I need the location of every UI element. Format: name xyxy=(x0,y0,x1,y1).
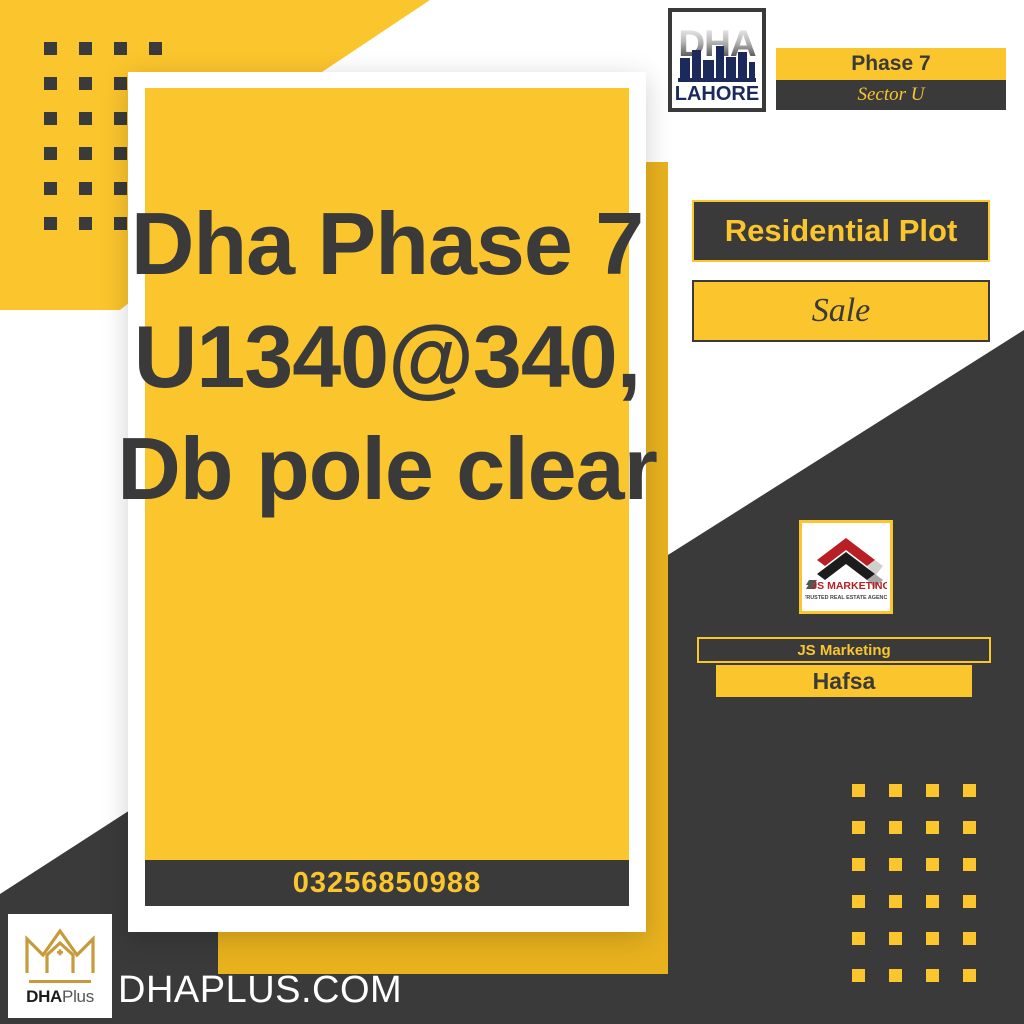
property-listing-poster: Dha Phase 7 U1340@340, Db pole clear 032… xyxy=(0,0,1024,1024)
dot xyxy=(149,42,162,55)
dot xyxy=(114,112,127,125)
sector-label: Sector U xyxy=(857,84,924,106)
listing-card-body: Dha Phase 7 U1340@340, Db pole clear xyxy=(145,88,629,878)
dot xyxy=(926,895,939,908)
dot xyxy=(926,932,939,945)
dot xyxy=(114,77,127,90)
agent-name: Hafsa xyxy=(813,668,876,695)
phone-number: 03256850988 xyxy=(293,867,481,900)
dot xyxy=(926,969,939,982)
dot xyxy=(926,858,939,871)
brand-bold: DHA xyxy=(26,987,62,1006)
dot xyxy=(889,821,902,834)
dot xyxy=(963,932,976,945)
dot xyxy=(963,784,976,797)
dot xyxy=(852,932,865,945)
dot xyxy=(114,42,127,55)
brand-underline xyxy=(29,980,91,983)
dot xyxy=(44,112,57,125)
listing-type-badge: Sale xyxy=(692,280,990,342)
phone-bar[interactable]: 03256850988 xyxy=(145,860,629,906)
dha-logo-inner: DHA LAHORE xyxy=(672,12,762,108)
crown-house-icon xyxy=(23,925,97,977)
agency-logo: JS MARKETING TRUSTED REAL ESTATE AGENCY xyxy=(799,520,893,614)
agency-logo-tagline: TRUSTED REAL ESTATE AGENCY xyxy=(805,595,887,601)
sector-badge: Sector U xyxy=(776,80,1006,110)
dot xyxy=(79,147,92,160)
dot xyxy=(889,784,902,797)
dot xyxy=(889,969,902,982)
dot xyxy=(963,858,976,871)
dot xyxy=(44,182,57,195)
dot xyxy=(852,969,865,982)
listing-type-label: Sale xyxy=(812,292,871,330)
dhaplus-brand-logo: DHAPlus xyxy=(8,914,112,1018)
dot xyxy=(44,217,57,230)
dot xyxy=(79,77,92,90)
property-type-badge: Residential Plot xyxy=(692,200,990,262)
dot xyxy=(852,858,865,871)
property-type-label: Residential Plot xyxy=(725,213,958,249)
listing-headline: Dha Phase 7 U1340@340, Db pole clear xyxy=(70,188,704,526)
phase-label: Phase 7 xyxy=(851,52,930,76)
brand-light: Plus xyxy=(62,987,94,1006)
dha-logo-icon: DHA LAHORE xyxy=(672,12,762,108)
dot xyxy=(889,895,902,908)
brand-logo-text: DHAPlus xyxy=(26,987,94,1007)
dot xyxy=(852,784,865,797)
dot xyxy=(44,77,57,90)
dot xyxy=(889,858,902,871)
dot xyxy=(44,147,57,160)
dot xyxy=(963,821,976,834)
agent-name-bar: Hafsa xyxy=(716,665,972,697)
svg-text:LAHORE: LAHORE xyxy=(675,83,759,105)
website-url[interactable]: DHAPLUS.COM xyxy=(118,969,402,1012)
dot-grid-bottom-right xyxy=(852,784,976,982)
dot xyxy=(79,42,92,55)
dot xyxy=(963,969,976,982)
dot xyxy=(889,932,902,945)
dot xyxy=(44,42,57,55)
dot xyxy=(926,821,939,834)
agency-name-bar: JS Marketing xyxy=(697,637,991,663)
agency-name: JS Marketing xyxy=(797,642,890,659)
agency-logo-name: JS MARKETING xyxy=(811,580,887,592)
dot xyxy=(963,895,976,908)
dot xyxy=(852,821,865,834)
phase-badge: Phase 7 xyxy=(776,48,1006,80)
js-marketing-chevron-icon: JS MARKETING TRUSTED REAL ESTATE AGENCY xyxy=(805,530,887,604)
dot xyxy=(114,147,127,160)
dha-lahore-logo: DHA LAHORE xyxy=(668,8,766,112)
dot xyxy=(926,784,939,797)
dot xyxy=(852,895,865,908)
dot xyxy=(79,112,92,125)
